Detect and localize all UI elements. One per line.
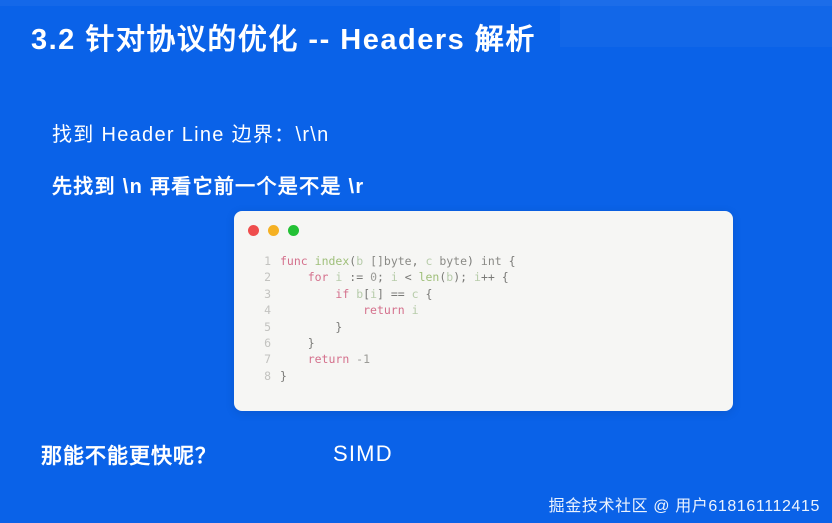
token-var: c <box>405 287 419 301</box>
minimize-icon[interactable] <box>268 225 279 236</box>
token-punct: } <box>280 369 287 383</box>
token-punct: } <box>308 336 315 350</box>
line-number: 5 <box>255 319 271 335</box>
code-window-titlebar <box>234 211 733 249</box>
token-var: i <box>405 303 419 317</box>
token-indent <box>280 352 308 366</box>
line-number: 8 <box>255 368 271 384</box>
token-space <box>308 254 315 268</box>
code-line-text: } <box>280 319 342 335</box>
line-number: 7 <box>255 351 271 367</box>
code-line-text: for i := 0; i < len(b); i++ { <box>280 269 509 285</box>
token-punct: ) <box>467 254 481 268</box>
token-var: i <box>391 270 398 284</box>
token-number: -1 <box>349 352 370 366</box>
line-number: 1 <box>255 253 271 269</box>
code-line: 4 return i <box>234 302 733 318</box>
token-punct: { <box>419 287 433 301</box>
token-op: < <box>398 270 419 284</box>
token-indent <box>280 320 335 334</box>
token-punct: , <box>412 254 426 268</box>
code-line: 7 return -1 <box>234 351 733 367</box>
code-line: 1 func index(b []byte, c byte) int { <box>234 253 733 269</box>
token-op: ++ <box>481 270 495 284</box>
code-line: 5 } <box>234 319 733 335</box>
token-keyword: for <box>308 270 329 284</box>
line-number: 3 <box>255 286 271 302</box>
token-indent <box>280 287 335 301</box>
token-keyword: return <box>363 303 405 317</box>
slide-canvas: 3.2 针对协议的优化 -- Headers 解析 找到 Header Line… <box>0 0 832 523</box>
line-number: 6 <box>255 335 271 351</box>
maximize-icon[interactable] <box>288 225 299 236</box>
token-function: index <box>315 254 350 268</box>
code-line-text: func index(b []byte, c byte) int { <box>280 253 516 269</box>
code-line-text: } <box>280 335 315 351</box>
token-punct: } <box>335 320 342 334</box>
code-line: 8 } <box>234 368 733 384</box>
token-indent <box>280 270 308 284</box>
line-number: 4 <box>255 302 271 318</box>
token-op: := <box>342 270 370 284</box>
token-var: i <box>370 287 377 301</box>
bottom-answer-simd: SIMD <box>333 441 393 467</box>
token-type: []byte <box>363 254 411 268</box>
token-punct: { <box>502 254 516 268</box>
token-indent <box>280 303 363 317</box>
token-punct: { <box>495 270 509 284</box>
code-line-text: return i <box>280 302 419 318</box>
code-line-text: } <box>280 368 287 384</box>
token-keyword: func <box>280 254 308 268</box>
body-line-find-newline-first: 先找到 \n 再看它前一个是不是 \r <box>52 173 364 201</box>
code-line: 3 if b[i] == c { <box>234 286 733 302</box>
token-number: 0 <box>370 270 377 284</box>
watermark: 掘金技术社区 @ 用户618161112415 <box>549 492 820 516</box>
token-keyword: if <box>335 287 349 301</box>
token-punct: ); <box>453 270 474 284</box>
body-line-find-header-boundary: 找到 Header Line 边界：\r\n <box>52 121 330 149</box>
token-punct: ] <box>377 287 391 301</box>
code-line-text: if b[i] == c { <box>280 286 432 302</box>
code-line-text: return -1 <box>280 351 370 367</box>
code-content: 1 func index(b []byte, c byte) int { 2 f… <box>234 253 733 384</box>
close-icon[interactable] <box>248 225 259 236</box>
code-line: 2 for i := 0; i < len(b); i++ { <box>234 269 733 285</box>
token-type: int <box>481 254 502 268</box>
token-function: len <box>419 270 440 284</box>
token-punct: ; <box>377 270 391 284</box>
token-indent <box>280 336 308 350</box>
code-window: 1 func index(b []byte, c byte) int { 2 f… <box>234 211 733 411</box>
token-type: byte <box>432 254 467 268</box>
page-title: 3.2 针对协议的优化 -- Headers 解析 <box>31 18 536 62</box>
token-keyword: return <box>308 352 350 366</box>
top-right-highlight-band <box>560 0 832 47</box>
bottom-question-text: 那能不能更快呢？ <box>41 440 217 470</box>
token-var: i <box>474 270 481 284</box>
line-number: 2 <box>255 269 271 285</box>
top-highlight-band <box>0 0 832 6</box>
token-op: == <box>391 287 405 301</box>
code-line: 6 } <box>234 335 733 351</box>
